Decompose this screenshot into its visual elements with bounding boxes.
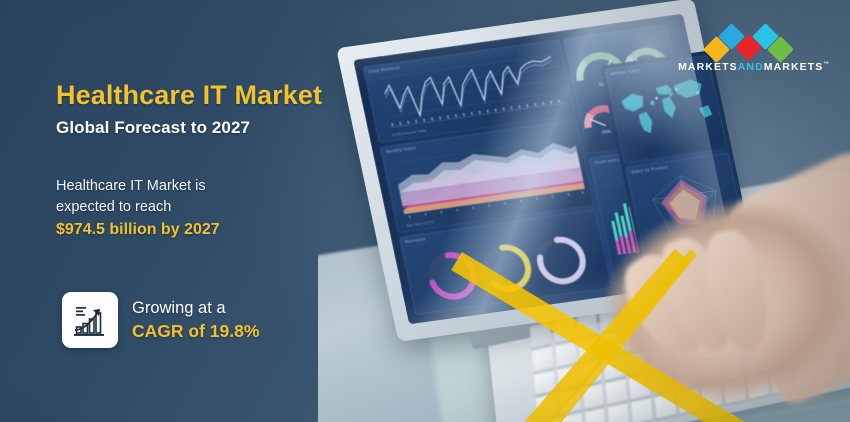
cagr-callout: Growing at a CAGR of 19.8% — [62, 292, 259, 348]
logo-word-markets-1: MARKETS — [678, 61, 738, 73]
marketing-banner: Daily Revenue — [0, 0, 850, 422]
logo-word-markets-2: MARKETS — [764, 61, 824, 73]
growth-bar-chart-glyph — [70, 300, 110, 340]
body-highlight-value: $974.5 billion by 2027 — [56, 218, 336, 242]
cagr-text: Growing at a CAGR of 19.8% — [132, 297, 259, 343]
cagr-line-2: CAGR of 19.8% — [132, 319, 259, 343]
logo-word-and: AND — [738, 61, 764, 73]
body-line-1: Healthcare IT Market is — [56, 176, 336, 197]
body-line-2: expected to reach — [56, 197, 336, 218]
body-copy: Healthcare IT Market is expected to reac… — [56, 176, 336, 242]
logo-trademark: ™ — [823, 62, 830, 68]
cagr-line-1: Growing at a — [132, 297, 259, 319]
logo-wordmark: MARKETSANDMARKETS™ — [678, 61, 830, 73]
page-title: Healthcare IT Market — [56, 80, 322, 111]
marketsandmarkets-logo[interactable]: MARKETSANDMARKETS™ — [678, 24, 830, 73]
logo-diamonds — [698, 24, 810, 58]
growth-bar-chart-icon — [62, 292, 118, 348]
svg-text:55%: 55% — [602, 129, 612, 135]
text-content: Healthcare IT Market Global Forecast to … — [0, 0, 400, 422]
page-subtitle: Global Forecast to 2027 — [56, 118, 250, 138]
